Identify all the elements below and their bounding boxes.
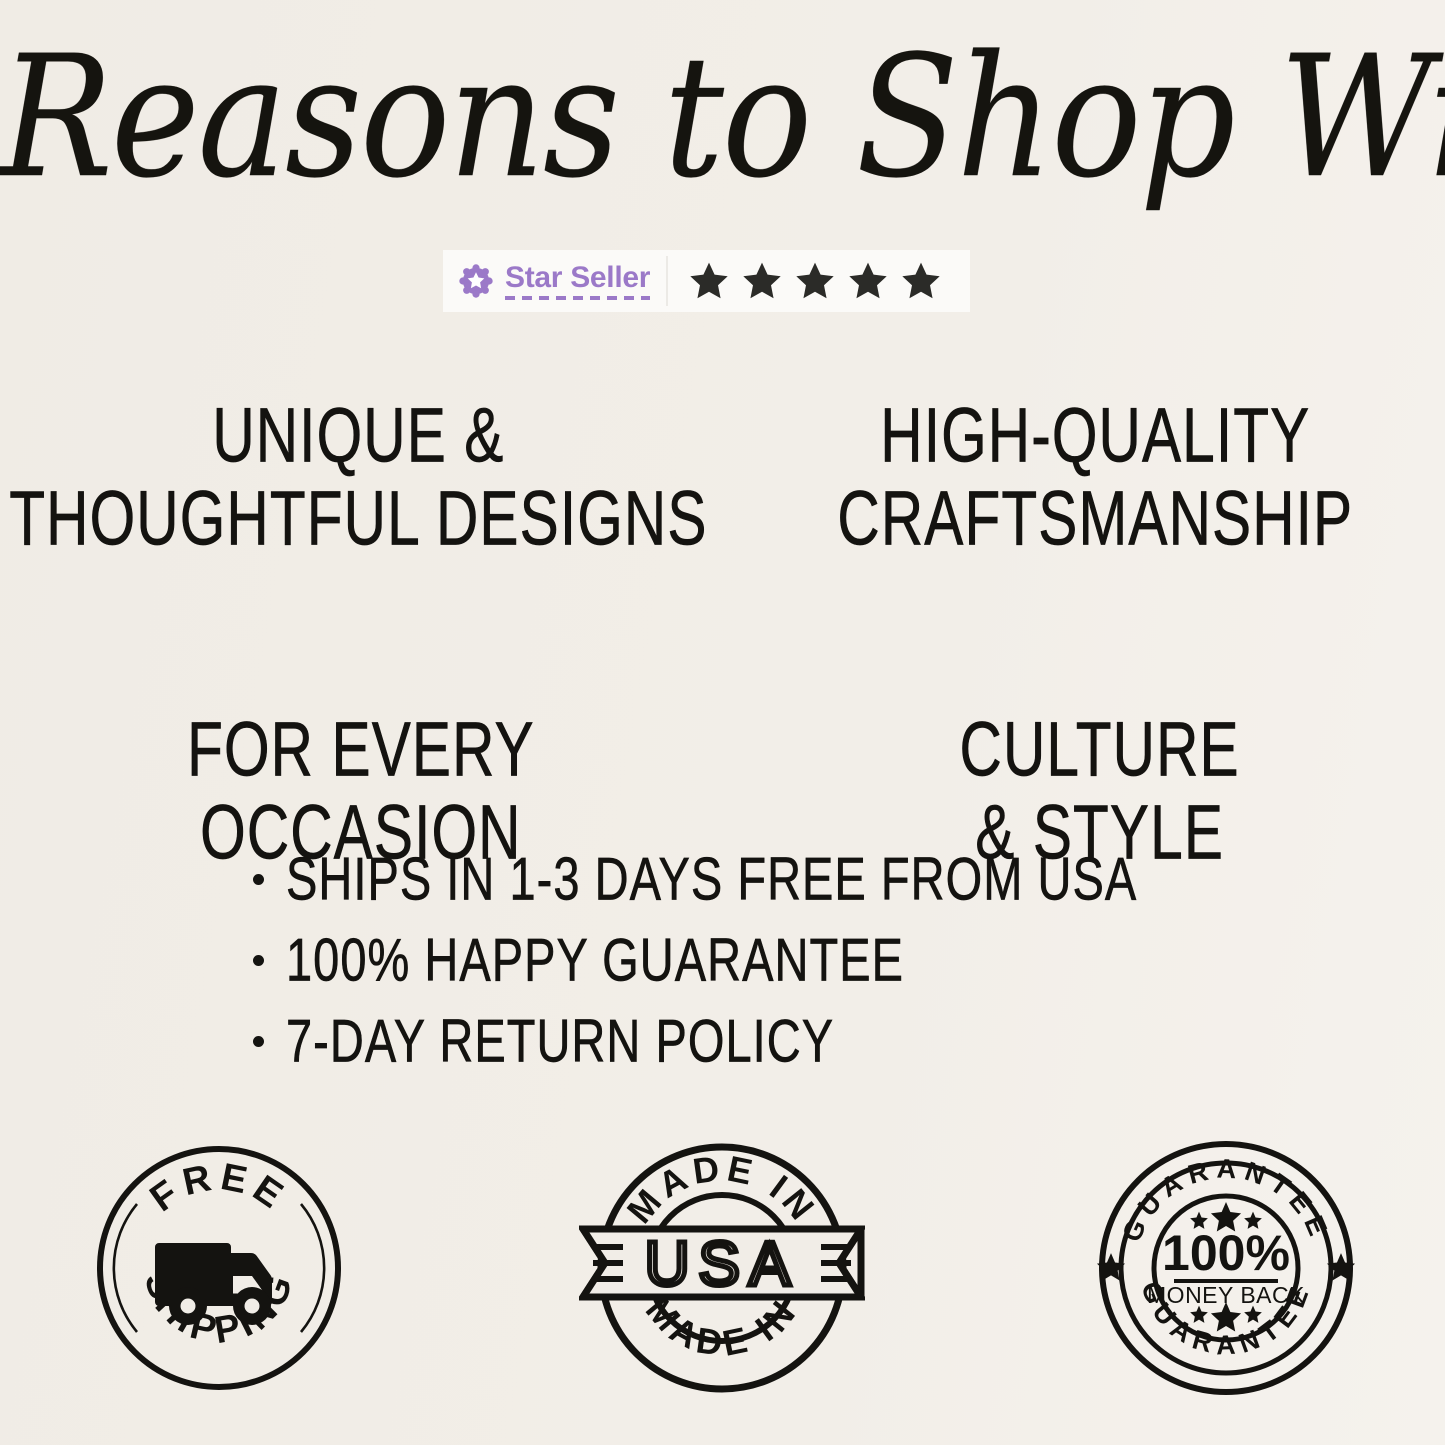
page-title-wrap: Reasons to Shop With Us — [0, 34, 1445, 184]
star-icon — [739, 258, 785, 304]
bullet-dot-icon — [253, 955, 264, 966]
svg-text:FREE: FREE — [142, 1156, 294, 1220]
feature-high-quality: HIGH-QUALITY CRAFTSMANSHIP — [818, 386, 1373, 552]
promo-graphic: Reasons to Shop With Us Star Seller — [0, 0, 1445, 1445]
bullet-dot-icon — [253, 874, 264, 885]
benefits-list: SHIPS IN 1-3 DAYS FREE FROM USA 100% HAP… — [253, 852, 1192, 1095]
benefit-text: 100% HAPPY GUARANTEE — [286, 928, 904, 994]
list-item: 100% HAPPY GUARANTEE — [253, 933, 1192, 988]
bullet-dot-icon — [253, 1036, 264, 1047]
seal-top-text: FREE — [142, 1156, 294, 1220]
money-back-guarantee-seal: GUARANTEE GUARANTEE — [1095, 1137, 1357, 1404]
guarantee-subtext: MONEY BACK — [1147, 1282, 1305, 1308]
star-icon — [845, 258, 891, 304]
star-seller-label-group: Star Seller — [443, 250, 664, 312]
feature-grid: UNIQUE & THOUGHTFUL DESIGNS FOR EVERY OC… — [0, 386, 1445, 867]
feature-every-occasion: FOR EVERY OCCASION — [174, 700, 548, 866]
rating-stars — [674, 258, 944, 304]
list-item: SHIPS IN 1-3 DAYS FREE FROM USA — [253, 852, 1192, 907]
feature-line: THOUGHTFUL DESIGNS — [9, 469, 707, 570]
feature-unique-designs: UNIQUE & THOUGHTFUL DESIGNS — [0, 386, 733, 552]
star-seller-dashed-underline — [505, 296, 650, 300]
star-icon — [1190, 1306, 1208, 1323]
badge-divider — [666, 256, 668, 306]
made-in-usa-seal: MADE IN MADE IN USA — [579, 1125, 865, 1416]
benefit-text: 7-DAY RETURN POLICY — [286, 1009, 834, 1075]
star-icon — [686, 258, 732, 304]
free-shipping-seal: FREE SHIPPING — [89, 1138, 349, 1403]
feature-column-left: UNIQUE & THOUGHTFUL DESIGNS FOR EVERY OC… — [0, 386, 722, 867]
star-icon — [1244, 1306, 1262, 1323]
svg-text:MADE IN: MADE IN — [618, 1147, 825, 1231]
page-title: Reasons to Shop With Us — [0, 34, 1445, 202]
trust-seals-row: FREE SHIPPING — [0, 1125, 1445, 1416]
benefit-text: SHIPS IN 1-3 DAYS FREE FROM USA — [286, 847, 1137, 913]
star-seller-badge: Star Seller — [443, 250, 970, 312]
benefits-list-wrap: SHIPS IN 1-3 DAYS FREE FROM USA 100% HAP… — [0, 852, 1445, 1095]
seal-top-text: MADE IN — [618, 1147, 825, 1231]
star-seller-label: Star Seller — [505, 262, 650, 294]
list-item: 7-DAY RETURN POLICY — [253, 1014, 1192, 1069]
star-icon — [792, 258, 838, 304]
star-seller-text: Star Seller — [505, 262, 650, 301]
star-icon — [898, 258, 944, 304]
guarantee-percent: 100% — [1162, 1225, 1290, 1281]
feature-line: CRAFTSMANSHIP — [837, 469, 1353, 570]
ribbon-banner: USA — [583, 1229, 861, 1299]
feature-culture-style: CULTURE & STYLE — [949, 700, 1250, 866]
feature-column-right: HIGH-QUALITY CRAFTSMANSHIP CULTURE & STY… — [722, 386, 1444, 867]
star-rosette-icon — [459, 264, 493, 298]
ribbon-text: USA — [644, 1230, 798, 1299]
